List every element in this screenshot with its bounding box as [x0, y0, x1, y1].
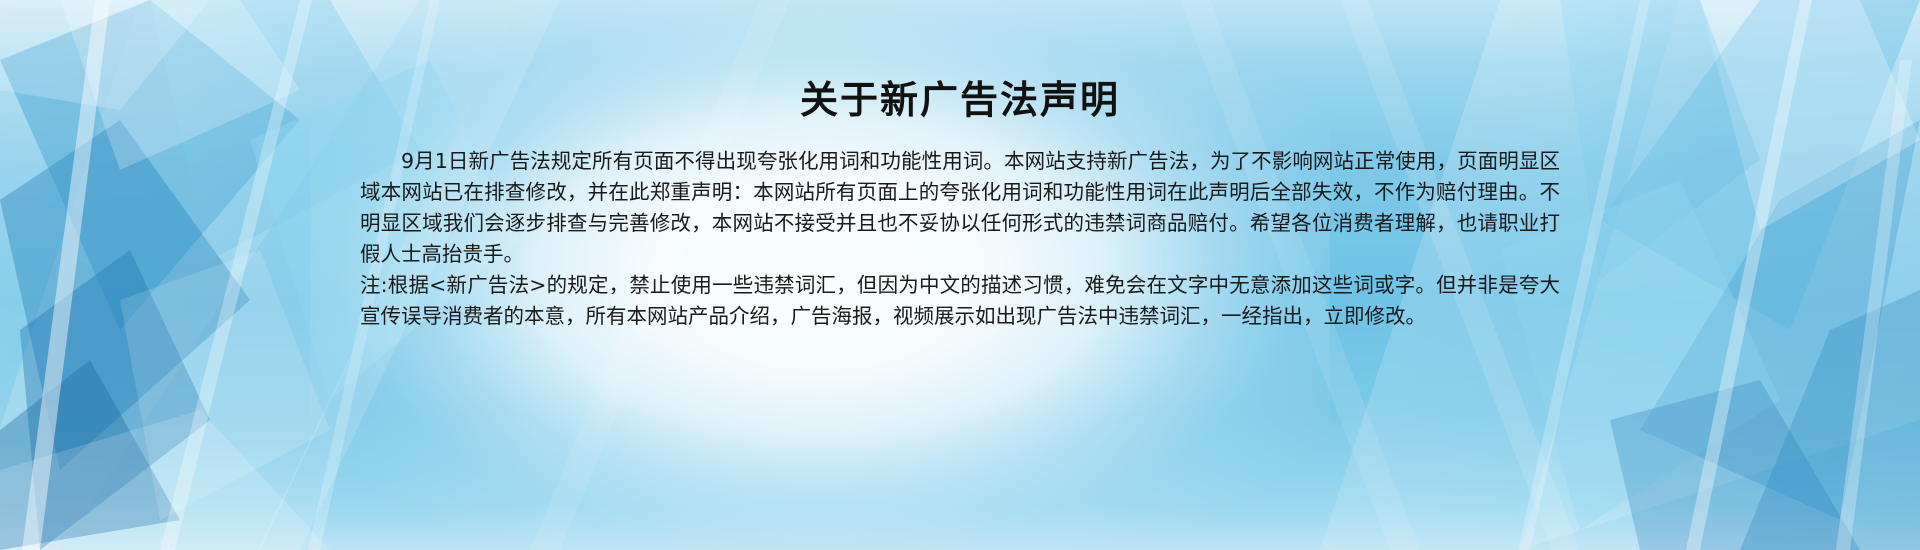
- page-title: 关于新广告法声明: [360, 78, 1560, 124]
- statement-paragraph-main: 9月1日新广告法规定所有页面不得出现夸张化用词和功能性用词。本网站支持新广告法，…: [360, 146, 1560, 270]
- statement-content: 关于新广告法声明 9月1日新广告法规定所有页面不得出现夸张化用词和功能性用词。本…: [360, 78, 1560, 332]
- statement-paragraph-note: 注:根据<新广告法>的规定，禁止使用一些违禁词汇，但因为中文的描述习惯，难免会在…: [360, 270, 1560, 332]
- advertising-law-statement-banner: 关于新广告法声明 9月1日新广告法规定所有页面不得出现夸张化用词和功能性用词。本…: [0, 0, 1920, 550]
